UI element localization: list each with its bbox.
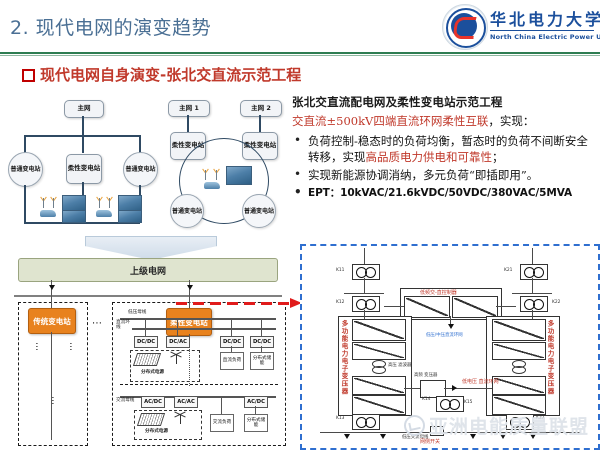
converter-block — [492, 376, 546, 395]
wind-turbine-icon — [202, 168, 209, 180]
circuit-line — [532, 278, 533, 294]
wind-turbine-symbol — [174, 412, 186, 424]
ac-section-divider — [120, 384, 278, 385]
seal-swoosh-icon — [452, 17, 476, 39]
trunk-line — [189, 334, 191, 386]
hv-filter-symbol — [512, 360, 524, 374]
label-distributed-source: 分布式电源 — [145, 429, 168, 434]
solar-farm-icon — [62, 210, 86, 223]
arrow-down-icon — [470, 434, 476, 439]
node-tag: K12 — [336, 300, 344, 305]
node-tag: K14 — [422, 397, 430, 402]
ellipsis-vertical: ⋯ — [67, 342, 72, 376]
converter-dc-dc: DC/DC — [220, 336, 244, 348]
arrow-shaft — [176, 302, 292, 305]
red-dashed-arrow — [176, 298, 308, 308]
converter-block — [404, 296, 450, 318]
wind-turbine-icon — [96, 196, 103, 208]
solar-panel-icon — [226, 166, 252, 185]
hv-filter-label: 高压 滤波器 — [388, 362, 411, 368]
university-seal-icon — [442, 4, 488, 50]
pet-right-label: 多功能电力电子变压器 — [546, 320, 554, 410]
logo-english-name: North China Electric Power University — [490, 30, 594, 41]
label-distributed-source: 分布式电源 — [141, 370, 164, 375]
slide-header: 2. 现代电网的演变趋势 华北电力大学 North China Electric… — [0, 0, 600, 54]
section-subtitle: 现代电网自身演变-张北交直流示范工程 — [0, 62, 600, 88]
circuit-line — [532, 310, 533, 319]
wind-turbine-icon — [40, 196, 47, 208]
ac-storage-box: 分布式储能 — [244, 414, 268, 432]
circuit-line — [496, 306, 516, 307]
network-switch-box — [430, 426, 444, 436]
link-line — [82, 135, 84, 153]
arrow-down-icon — [448, 324, 454, 329]
link-line — [24, 185, 26, 223]
ellipsis-vertical: ⋯ — [49, 396, 54, 430]
node-main-grid-1: 主网 1 — [168, 100, 210, 117]
circuit-line — [364, 278, 365, 294]
label-dc-low-bus: 低压母线 — [128, 310, 146, 315]
node-flexible-substation: 柔性变电站 — [66, 154, 102, 184]
converter-block — [492, 319, 546, 341]
bullet-pre: 实现新能源协调消纳，多元负荷“即插即用”。 — [308, 168, 538, 182]
controller-label: 低频交-直控制器 — [420, 289, 457, 296]
bullet-item: 负荷控制-稳态时的负荷均衡，暂态时的负荷不间断安全转移，实现高品质电力供电和可靠… — [292, 133, 596, 165]
node-normal-substation: 普通变电站 — [8, 152, 43, 187]
slide-root: 2. 现代电网的演变趋势 华北电力大学 North China Electric… — [0, 0, 600, 450]
upper-grid-bar: 上级电网 — [18, 258, 278, 282]
transformer-symbol — [506, 414, 534, 430]
arrow-down-icon — [49, 285, 55, 290]
lv-ac-bus — [320, 432, 580, 433]
feeder-line — [51, 295, 52, 308]
dc-storage-box: 分布式储能 — [250, 352, 274, 370]
link-line — [82, 116, 84, 136]
converter-ac-dc: AC/DC — [244, 396, 268, 408]
arrow-down-icon — [500, 434, 506, 439]
branch-line — [255, 406, 256, 414]
ellipsis-vertical: ⋯ — [33, 342, 38, 376]
square-bullet-icon — [22, 69, 35, 82]
header-divider-thin — [0, 55, 600, 56]
converter-ac-ac: AC/AC — [174, 396, 198, 408]
arrow-down-icon — [380, 434, 386, 439]
link-line — [259, 115, 261, 133]
hf-transformer-label: 高频 变压器 — [414, 372, 437, 378]
branch-line — [221, 396, 222, 414]
circuit-line — [444, 388, 480, 389]
hv-filter-symbol — [372, 360, 384, 374]
branch-line — [145, 318, 146, 336]
dc-load-box: 直流负荷 — [220, 352, 244, 370]
arrow-down-icon — [187, 285, 193, 290]
node-normal-substation: 普通变电站 — [242, 194, 276, 228]
wind-turbine-icon — [50, 196, 57, 208]
converter-block — [452, 296, 498, 318]
label-ac-bus: 交流母线 — [116, 398, 134, 403]
node-tag: K13 — [336, 416, 344, 421]
ellipsis-horizontal: ⋯ — [92, 318, 103, 329]
arrow-right-icon — [452, 385, 457, 391]
solar-array-symbol — [137, 413, 165, 426]
electric-vehicle-icon — [40, 210, 56, 217]
project-heading: 张北交直流配电网及柔性变电站示范工程 — [292, 94, 596, 110]
transformer-symbol — [436, 396, 464, 412]
solar-array-symbol — [133, 353, 161, 366]
circuit-line — [480, 388, 492, 389]
logo-chinese-name: 华北电力大学 — [490, 6, 600, 30]
node-tag: K21 — [504, 268, 512, 273]
bullet-item: 实现新能源协调消纳，多元负荷“即插即用”。 — [292, 167, 596, 183]
transformer-symbol — [352, 296, 380, 312]
university-logo: 华北电力大学 North China Electric Power Univer… — [442, 2, 596, 50]
node-tag: K15 — [464, 400, 472, 405]
grid-evolution-diagram: 主网 普通变电站 柔性变电站 普通变电站 主网 1 主网 2 柔性变电站 柔性变… — [4, 98, 288, 238]
dc-ring-line — [132, 328, 276, 330]
solar-farm-icon — [118, 210, 142, 223]
transformer-symbol — [352, 264, 380, 280]
node-main-grid-2: 主网 2 — [240, 100, 282, 117]
branch-line — [261, 318, 262, 336]
wind-turbine-icon — [106, 196, 113, 208]
substation-architecture-diagram: 上级电网 传统变电站 ⋯ ⋯ ⋯ ⋯ 柔性变电站 低压母线 直流环线 DC/DC… — [4, 256, 292, 446]
wind-turbine-symbol — [170, 352, 182, 364]
converter-block — [352, 319, 406, 341]
converter-block — [352, 395, 406, 415]
bullet-post: ； — [492, 150, 504, 164]
circuit-bus — [344, 293, 384, 294]
electric-vehicle-icon — [96, 210, 112, 217]
node-tag: K22 — [552, 300, 560, 305]
subtitle-text: 现代电网自身演变-张北交直流示范工程 — [40, 64, 301, 85]
link-line — [24, 135, 26, 153]
header-divider — [0, 52, 600, 54]
transformer-symbol — [352, 414, 380, 430]
project-lead: 交直流±500kV四端直流环网柔性互联，实现： — [292, 113, 596, 129]
dc-bus-line — [120, 318, 276, 320]
branch-line — [261, 346, 262, 352]
link-line — [139, 135, 141, 153]
transformer-symbol — [520, 296, 548, 312]
arrow-down-icon — [344, 434, 350, 439]
pet-circuit-diagram: K11 K21 K12 K22 低频交-直控制器 低压/中压直流环网 多功能电力… — [300, 244, 600, 450]
flexible-substation-box: 柔性变电站 — [166, 308, 212, 336]
circuit-line — [364, 310, 365, 319]
converter-block — [352, 376, 406, 395]
lead-tail: ，实现： — [488, 114, 534, 128]
arrow-down-icon — [530, 434, 536, 439]
node-main-grid: 主网 — [64, 100, 104, 118]
page-title: 2. 现代电网的演变趋势 — [10, 13, 211, 40]
branch-line — [231, 346, 232, 352]
converter-block — [352, 342, 406, 360]
electric-vehicle-icon — [204, 182, 220, 189]
description-panel: 张北交直流配电网及柔性变电站示范工程 交直流±500kV四端直流环网柔性互联，实… — [292, 94, 596, 203]
traditional-substation-box: 传统变电站 — [28, 308, 76, 334]
converter-dc-dc: DC/DC — [134, 336, 158, 348]
branch-line — [177, 318, 178, 336]
lead-highlight: 交直流±500kV四端直流环网柔性互联 — [292, 114, 488, 128]
node-normal-substation: 普通变电站 — [123, 152, 158, 187]
converter-dc-dc: DC/DC — [250, 336, 274, 348]
wind-turbine-icon — [213, 168, 220, 180]
converter-block — [492, 342, 546, 360]
switch-caption: 网侧开关 — [420, 438, 440, 445]
transformer-symbol — [520, 264, 548, 280]
bullet-highlight: 高品质电力供电和可靠性 — [366, 150, 493, 164]
mid-caption: 低电压 直流环网 — [462, 378, 499, 385]
converter-dc-ac: DC/AC — [166, 336, 190, 348]
branch-line — [231, 318, 232, 336]
main-bus-line — [14, 295, 282, 297]
ac-load-box: 交流负荷 — [210, 414, 234, 432]
bullet-item-ept: EPT：10kVAC/21.6kVDC/50VDC/380VAC/5MVA — [292, 185, 596, 201]
pet-left-label: 多功能电力电子变压器 — [340, 320, 348, 410]
circuit-line — [384, 306, 404, 307]
node-normal-substation: 普通变电站 — [170, 194, 204, 228]
link-line — [187, 115, 189, 133]
controller-caption: 低压/中压直流环网 — [426, 332, 463, 338]
node-tag: K11 — [336, 268, 344, 273]
converter-ac-dc: AC/DC — [141, 396, 165, 408]
label-dc-ring: 直流环线 — [116, 320, 130, 331]
node-tag: K23 — [536, 416, 544, 421]
circuit-bus — [512, 293, 552, 294]
converter-block — [492, 395, 546, 415]
